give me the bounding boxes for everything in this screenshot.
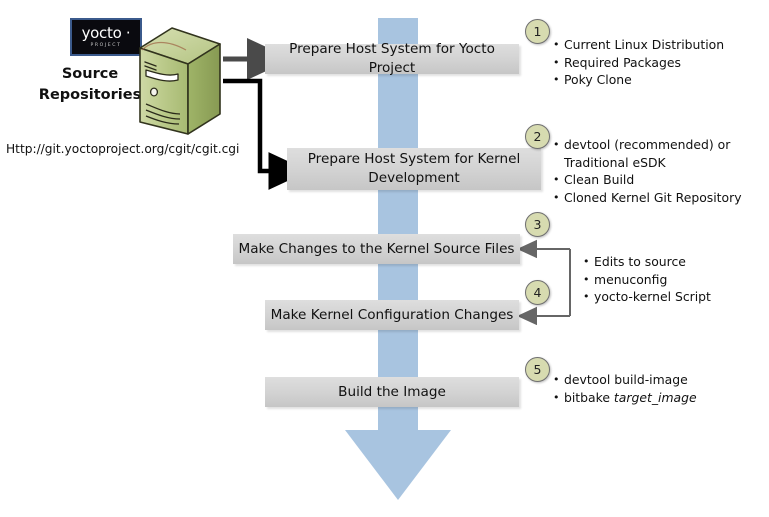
list-item: yocto-kernel Script xyxy=(583,288,768,306)
step-number-3: 3 xyxy=(525,212,550,237)
step-number-4: 4 xyxy=(525,280,550,305)
step-box-build-the-image[interactable]: Build the Image xyxy=(265,377,519,407)
step5-bullet-list: devtool build-image bitbake target_image xyxy=(553,371,768,406)
list-item: devtool build-image xyxy=(553,371,768,389)
list-item: Edits to source xyxy=(583,253,768,271)
step2-bullet-list: devtool (recommended) or Traditional eSD… xyxy=(553,136,768,206)
bitbake-command-prefix: bitbake xyxy=(564,390,614,405)
step-number-2: 2 xyxy=(525,124,550,149)
list-item: Current Linux Distribution xyxy=(553,36,768,54)
step-box-prepare-host-kernel[interactable]: Prepare Host System for Kernel Developme… xyxy=(287,148,541,190)
list-item: Poky Clone xyxy=(553,71,768,89)
step1-bullet-list: Current Linux Distribution Required Pack… xyxy=(553,36,768,89)
list-item: Cloned Kernel Git Repository xyxy=(553,189,768,207)
list-item: bitbake target_image xyxy=(553,389,768,407)
bitbake-target-image-arg: target_image xyxy=(614,390,697,405)
step-box-prepare-host-yocto[interactable]: Prepare Host System for Yocto Project xyxy=(265,44,519,74)
step-number-1: 1 xyxy=(525,19,550,44)
list-item: Clean Build xyxy=(553,171,768,189)
arrow-server-to-step2 xyxy=(223,81,273,171)
step-box-make-kernel-source-changes[interactable]: Make Changes to the Kernel Source Files xyxy=(233,234,520,264)
list-item: Required Packages xyxy=(553,54,768,72)
list-item: devtool (recommended) or Traditional eSD… xyxy=(553,136,768,171)
step3-step4-shared-bullet-list: Edits to source menuconfig yocto-kernel … xyxy=(583,253,768,306)
step-number-5: 5 xyxy=(525,357,550,382)
diagram-canvas: yocto · PROJECT Source Repositories Http… xyxy=(0,0,769,517)
step-box-make-kernel-config-changes[interactable]: Make Kernel Configuration Changes xyxy=(265,300,519,330)
list-item: menuconfig xyxy=(583,271,768,289)
